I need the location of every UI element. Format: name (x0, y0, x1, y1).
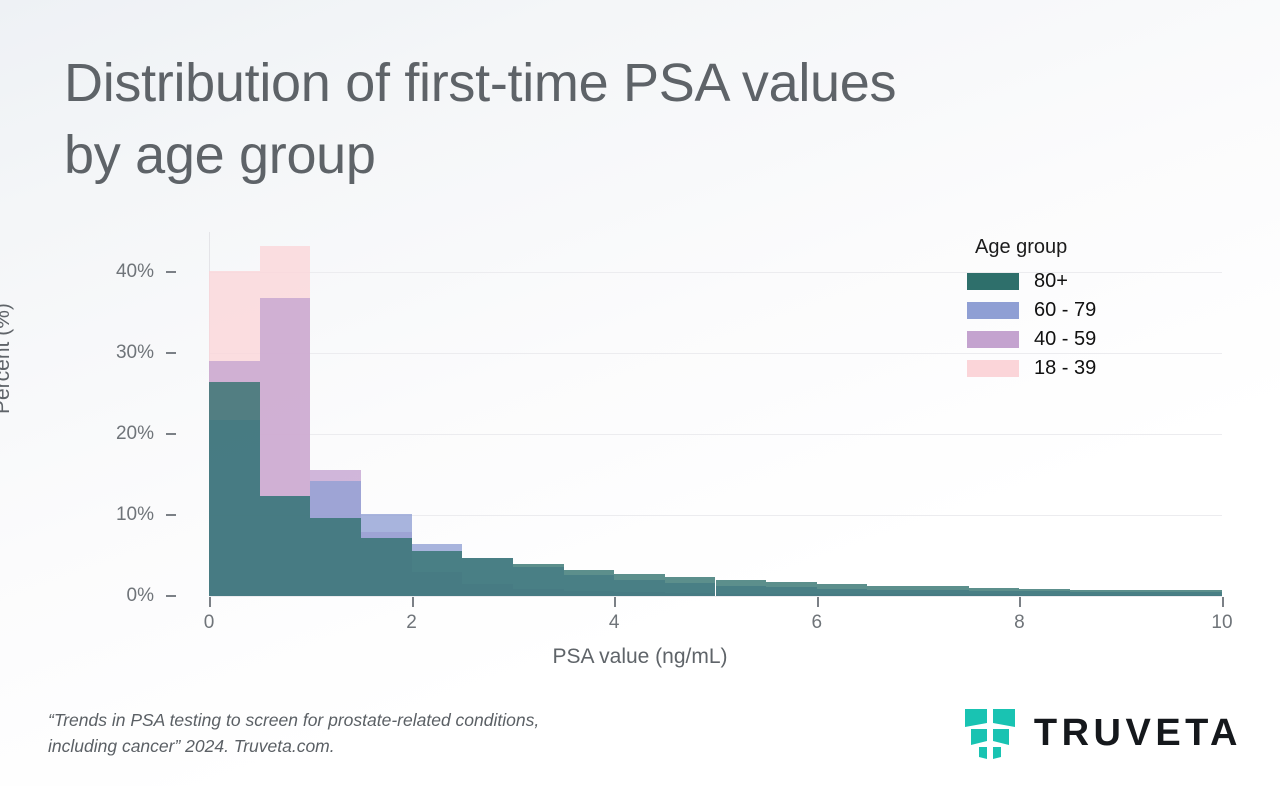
y-tick-label: 30% (60, 342, 154, 364)
legend-swatch-icon (967, 273, 1019, 290)
chart-canvas: 0%10%20%30%40% Percent (%) 0246810 PSA v… (0, 0, 1280, 786)
x-tick-label: 2 (406, 612, 417, 634)
histogram-bar (867, 586, 918, 597)
source-caption: “Trends in PSA testing to screen for pro… (48, 707, 688, 760)
x-tick-label: 8 (1014, 612, 1025, 634)
x-tick-label: 6 (812, 612, 823, 634)
histogram-bar (614, 574, 665, 596)
y-tick-mark (166, 433, 176, 435)
y-axis-label: Percent (%) (0, 303, 15, 414)
x-tick-label: 10 (1211, 612, 1232, 634)
legend-item[interactable]: 40 - 59 (967, 325, 1167, 354)
histogram-bar (412, 551, 463, 596)
x-tick-label: 4 (609, 612, 620, 634)
y-tick-mark (166, 595, 176, 597)
histogram-bar (1171, 590, 1222, 596)
legend-title: Age group (975, 236, 1167, 259)
legend-swatch-icon (967, 331, 1019, 348)
histogram-bar (1019, 589, 1070, 596)
y-tick-mark (166, 514, 176, 516)
y-tick-mark (166, 271, 176, 273)
truveta-logo: TRUVETA (963, 705, 1242, 761)
histogram-bar (766, 582, 817, 596)
legend-item[interactable]: 60 - 79 (967, 296, 1167, 325)
y-tick-label: 10% (60, 504, 154, 526)
legend-item-label: 80+ (1034, 270, 1068, 293)
y-tick-label: 20% (60, 423, 154, 445)
legend-item[interactable]: 18 - 39 (967, 354, 1167, 383)
y-tick-label: 40% (60, 261, 154, 283)
x-tick-mark (1222, 597, 1224, 607)
histogram-bar (462, 558, 513, 596)
histogram-bar (260, 496, 311, 596)
legend-swatch-icon (967, 302, 1019, 319)
x-tick-label: 0 (204, 612, 215, 634)
histogram-bar (1121, 590, 1172, 596)
histogram-bar (918, 586, 969, 596)
truveta-wordmark: TRUVETA (1034, 714, 1242, 752)
histogram-bar (310, 518, 361, 596)
truveta-mark-icon (963, 705, 1017, 761)
legend-item-label: 18 - 39 (1034, 357, 1096, 380)
gridline (209, 596, 1222, 597)
histogram-bar (969, 588, 1020, 596)
y-tick-mark (166, 352, 176, 354)
chart-page: Distribution of first-time PSA values by… (0, 0, 1280, 786)
histogram-bar (716, 580, 767, 596)
legend-swatch-icon (967, 360, 1019, 377)
x-tick-mark (614, 597, 616, 607)
y-tick-label: 0% (60, 585, 154, 607)
legend-item-label: 40 - 59 (1034, 328, 1096, 351)
x-axis-label: PSA value (ng/mL) (0, 645, 1280, 669)
x-tick-mark (1019, 597, 1021, 607)
histogram-bar (1070, 590, 1121, 596)
legend: Age group 80+60 - 7940 - 5918 - 39 (967, 236, 1167, 383)
histogram-bar (817, 584, 868, 596)
legend-item-label: 60 - 79 (1034, 299, 1096, 322)
histogram-bar (564, 570, 615, 596)
x-tick-mark (817, 597, 819, 607)
x-tick-mark (412, 597, 414, 607)
histogram-bar (513, 564, 564, 596)
histogram-bar (361, 538, 412, 596)
histogram-bar (665, 577, 716, 596)
legend-item[interactable]: 80+ (967, 267, 1167, 296)
x-tick-mark (209, 597, 211, 607)
histogram-bar (209, 382, 260, 596)
